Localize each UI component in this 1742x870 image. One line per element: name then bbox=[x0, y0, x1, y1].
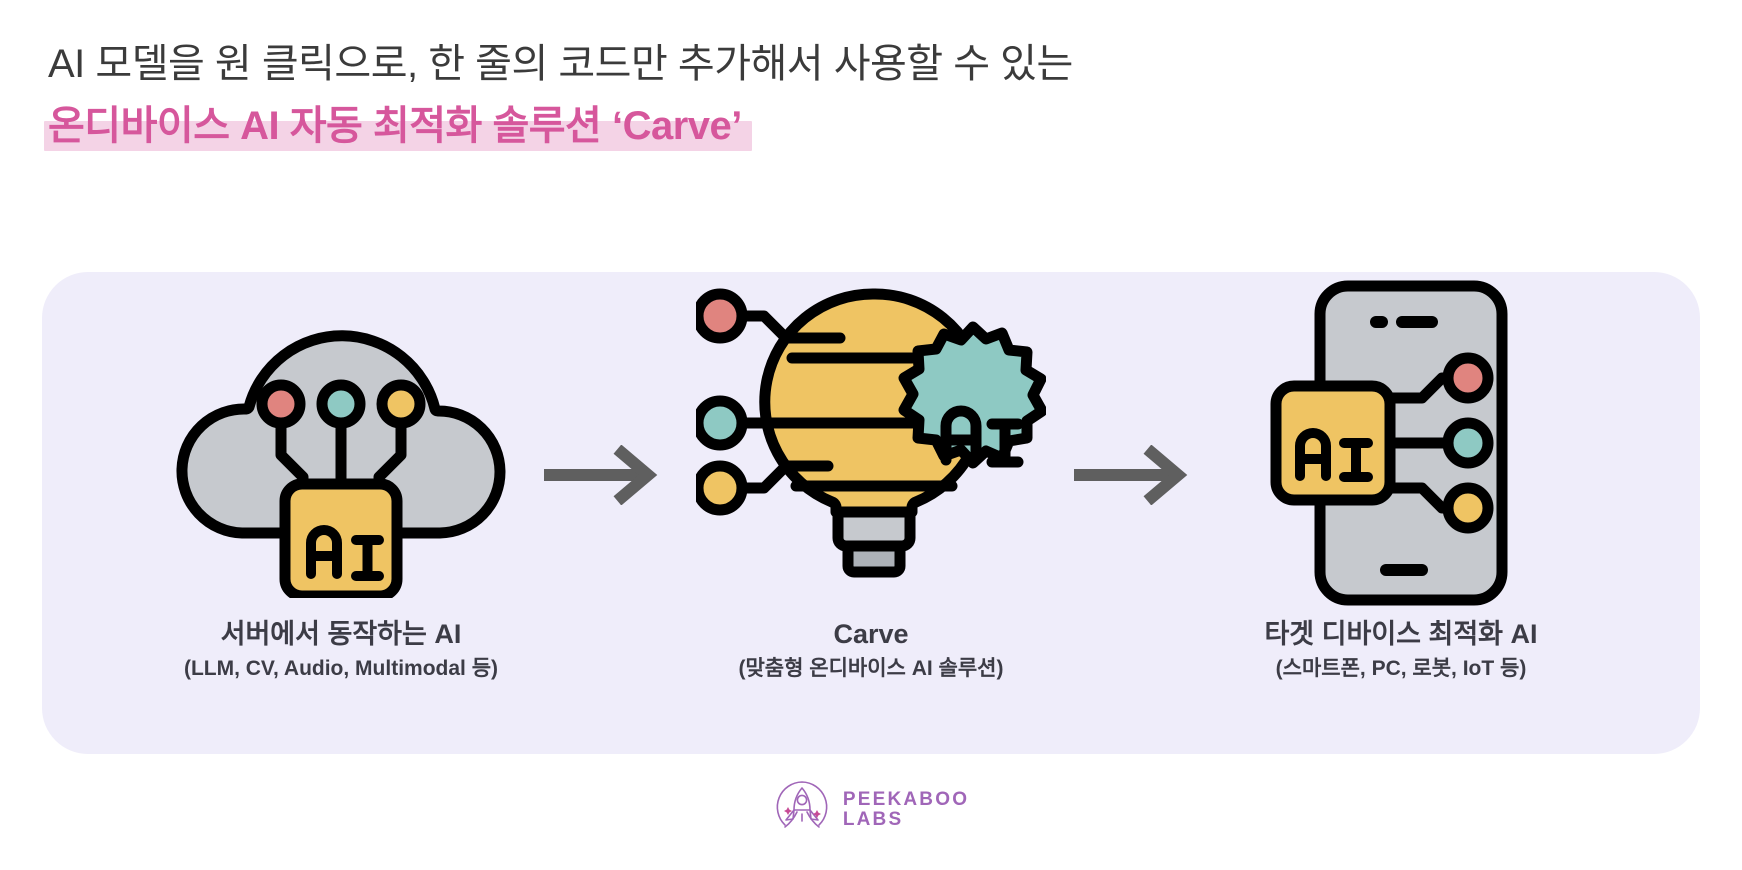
arrow-right-icon bbox=[531, 445, 681, 505]
flow-panel: 서버에서 동작하는 AI (LLM, CV, Audio, Multimodal… bbox=[42, 272, 1700, 754]
stage-caption-carve: Carve (맞춤형 온디바이스 AI 솔루션) bbox=[738, 618, 1003, 682]
stage-subtitle: (스마트폰, PC, 로봇, IoT 등) bbox=[1264, 655, 1537, 682]
brand-line-1: PEEKABOO bbox=[843, 790, 969, 809]
stage-subtitle: (맞춤형 온디바이스 AI 솔루션) bbox=[738, 655, 1003, 682]
smartphone-ai-chip-icon bbox=[1236, 278, 1566, 608]
brand-wordmark: PEEKABOO LABS bbox=[843, 790, 969, 829]
stage-title: Carve bbox=[738, 618, 1003, 651]
footer-brand-logo: PEEKABOO LABS bbox=[0, 778, 1742, 841]
flow-diagram: 서버에서 동작하는 AI (LLM, CV, Audio, Multimodal… bbox=[42, 272, 1700, 754]
headline-line-2: 온디바이스 AI 자동 최적화 솔루션 ‘Carve’ bbox=[48, 104, 742, 148]
lightbulb-gear-ai-icon bbox=[696, 278, 1046, 608]
flow-stage-server-ai: 서버에서 동작하는 AI (LLM, CV, Audio, Multimodal… bbox=[151, 272, 531, 754]
stage-title: 타겟 디바이스 최적화 AI bbox=[1264, 618, 1537, 651]
flow-stage-target-device: 타겟 디바이스 최적화 AI (스마트폰, PC, 로봇, IoT 등) bbox=[1211, 272, 1591, 754]
stage-caption-server-ai: 서버에서 동작하는 AI (LLM, CV, Audio, Multimodal… bbox=[184, 618, 498, 682]
stage-title: 서버에서 동작하는 AI bbox=[184, 618, 498, 651]
page-title: AI 모델을 원 클릭으로, 한 줄의 코드만 추가해서 사용할 수 있는 온디… bbox=[48, 36, 1548, 152]
rocket-icon bbox=[773, 778, 831, 841]
headline-line-2-wrapper: 온디바이스 AI 자동 최적화 솔루션 ‘Carve’ bbox=[48, 100, 742, 152]
stage-subtitle: (LLM, CV, Audio, Multimodal 등) bbox=[184, 655, 498, 682]
headline-line-1: AI 모델을 원 클릭으로, 한 줄의 코드만 추가해서 사용할 수 있는 bbox=[48, 36, 1548, 92]
cloud-ai-chip-icon bbox=[176, 278, 506, 608]
flow-stage-carve: Carve (맞춤형 온디바이스 AI 솔루션) bbox=[681, 272, 1061, 754]
brand-line-2: LABS bbox=[843, 810, 969, 829]
stage-caption-target-device: 타겟 디바이스 최적화 AI (스마트폰, PC, 로봇, IoT 등) bbox=[1264, 618, 1537, 682]
arrow-right-icon bbox=[1061, 445, 1211, 505]
